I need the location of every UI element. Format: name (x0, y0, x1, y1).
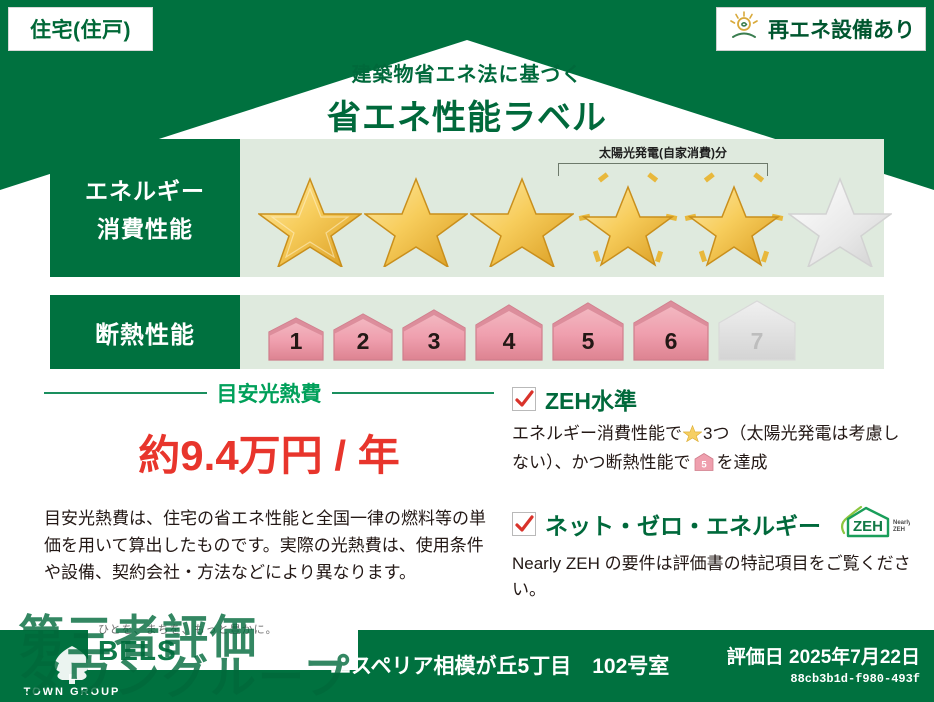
star-rating (258, 165, 874, 269)
rule-left (44, 392, 207, 394)
insulation-grade-2: 2 (330, 308, 396, 362)
svg-text:ZEH: ZEH (893, 527, 905, 533)
zeh-standard-block: ZEH水準 エネルギー消費性能で 3つ（太陽光発電は考慮しない）、かつ断熱性能で… (512, 382, 912, 481)
bracket-shape (558, 163, 768, 176)
energy-performance-row: エネルギー 消費性能 太陽光発電(自家消費)分 (50, 139, 884, 277)
inline-star-icon (683, 423, 702, 450)
insulation-label: 断熱性能 (95, 315, 195, 350)
grade-number: 5 (549, 328, 627, 355)
insulation-grade-7: 7 (715, 296, 799, 362)
net-zero-title: ネット・ゼロ・エネルギー (545, 507, 821, 541)
solar-generation-bracket: 太陽光発電(自家消費)分 (558, 144, 768, 176)
zeh-column: ZEH水準 エネルギー消費性能で 3つ（太陽光発電は考慮しない）、かつ断熱性能で… (512, 382, 912, 603)
insulation-grade-scale: 1 2 3 (265, 295, 874, 369)
net-zero-heading: ネット・ゼロ・エネルギー ZEH Nearly ZEH (512, 503, 912, 546)
zeh-detail-part-a: エネルギー消費性能で (512, 424, 682, 443)
page-title: 省エネ性能ラベル (0, 90, 934, 139)
evaluation-date: 評価日 2025年7月22日 (727, 642, 920, 669)
property-address: エスペリア相模が丘5丁目 102号室 (330, 650, 669, 680)
bels-logo: BELS (98, 637, 358, 665)
star-filled-1 (258, 167, 362, 267)
zeh-logo-icon: ZEH Nearly ZEH (836, 503, 910, 546)
town-group-logo: TOWN GROUP (8, 632, 136, 698)
grade-number: 3 (399, 328, 469, 355)
energy-performance-row-body: 太陽光発電(自家消費)分 (240, 139, 884, 277)
star-empty-6 (788, 167, 892, 267)
checkbox-checked-icon[interactable] (512, 512, 536, 536)
zeh-standard-detail: エネルギー消費性能で 3つ（太陽光発電は考慮しない）、かつ断熱性能で 5 を達成 (512, 421, 912, 481)
insulation-grade-1: 1 (265, 312, 327, 362)
star-filled-2 (364, 167, 468, 267)
grade-number: 2 (330, 328, 396, 355)
energy-cost-heading-text: 目安光熱費 (217, 378, 322, 408)
net-zero-detail: Nearly ZEH の要件は評価書の特記項目をご覧ください。 (512, 551, 912, 604)
tree-icon (34, 642, 110, 686)
evaluation-date-value: 2025年7月22日 (789, 647, 920, 668)
title-block: 建築物省エネ法に基づく 省エネ性能ラベル (0, 58, 934, 139)
rule-right (332, 392, 495, 394)
grade-number: 1 (265, 328, 327, 355)
housing-type-label: 住宅(住戸) (30, 14, 131, 44)
zeh-standard-heading: ZEH水準 (512, 382, 912, 416)
energy-cost-column: 目安光熱費 約9.4万円 / 年 目安光熱費は、住宅の省エネ性能と全国一律の燃料… (44, 378, 494, 587)
svg-text:ZEH: ZEH (853, 518, 883, 535)
document-id: 88cb3b1d-f980-493f (727, 672, 920, 686)
insulation-performance-row-body: 1 2 3 (240, 295, 884, 369)
star-filled-solar-4 (576, 167, 680, 267)
insulation-grade-5: 5 (549, 298, 627, 362)
sun-energy-icon (727, 10, 761, 49)
energy-cost-heading: 目安光熱費 (44, 378, 494, 408)
insulation-grade-4: 4 (472, 300, 546, 362)
svg-text:Nearly: Nearly (893, 520, 910, 526)
energy-cost-value: 約9.4万円 / 年 (44, 422, 494, 483)
energy-performance-row-label: エネルギー 消費性能 (50, 139, 240, 277)
grade-number: 6 (630, 328, 712, 355)
insulation-performance-row-label: 断熱性能 (50, 295, 240, 369)
zeh-detail-part-c: を達成 (717, 453, 768, 472)
insulation-grade-6: 6 (630, 296, 712, 362)
star-filled-solar-5 (682, 167, 786, 267)
energy-cost-note: 目安光熱費は、住宅の省エネ性能と全国一律の燃料等の単価を用いて算出したものです。… (44, 505, 494, 587)
town-group-text: TOWN GROUP (24, 686, 121, 698)
lower-section: 目安光熱費 約9.4万円 / 年 目安光熱費は、住宅の省エネ性能と全国一律の燃料… (0, 378, 934, 600)
grade-number: 7 (715, 328, 799, 355)
energy-performance-label: 住宅(住戸) 再エネ設備あり 建築物省エネ法に基づく 省エネ性能ラベル (0, 0, 934, 702)
insulation-performance-row: 断熱性能 (50, 295, 884, 369)
renewable-energy-label: 再エネ設備あり (768, 14, 915, 44)
net-zero-energy-block: ネット・ゼロ・エネルギー ZEH Nearly ZEH Nearly ZEH の… (512, 503, 912, 604)
insulation-grade-3: 3 (399, 304, 469, 362)
checkbox-checked-icon[interactable] (512, 387, 536, 411)
inline-house-grade-icon: 5 (693, 452, 715, 480)
energy-label-line1: エネルギー (85, 172, 205, 206)
energy-label-line2: 消費性能 (97, 210, 193, 244)
renewable-energy-badge: 再エネ設備あり (716, 7, 926, 51)
star-filled-3 (470, 167, 574, 267)
grade-number: 4 (472, 328, 546, 355)
label-subtitle: 建築物省エネ法に基づく (0, 58, 934, 87)
evaluation-info: 評価日 2025年7月22日 88cb3b1d-f980-493f (727, 642, 920, 686)
solar-generation-caption: 太陽光発電(自家消費)分 (558, 144, 768, 161)
housing-type-badge: 住宅(住戸) (8, 7, 153, 51)
evaluation-date-label: 評価日 (727, 647, 784, 668)
zeh-standard-title: ZEH水準 (545, 382, 637, 416)
svg-text:5: 5 (701, 460, 707, 471)
